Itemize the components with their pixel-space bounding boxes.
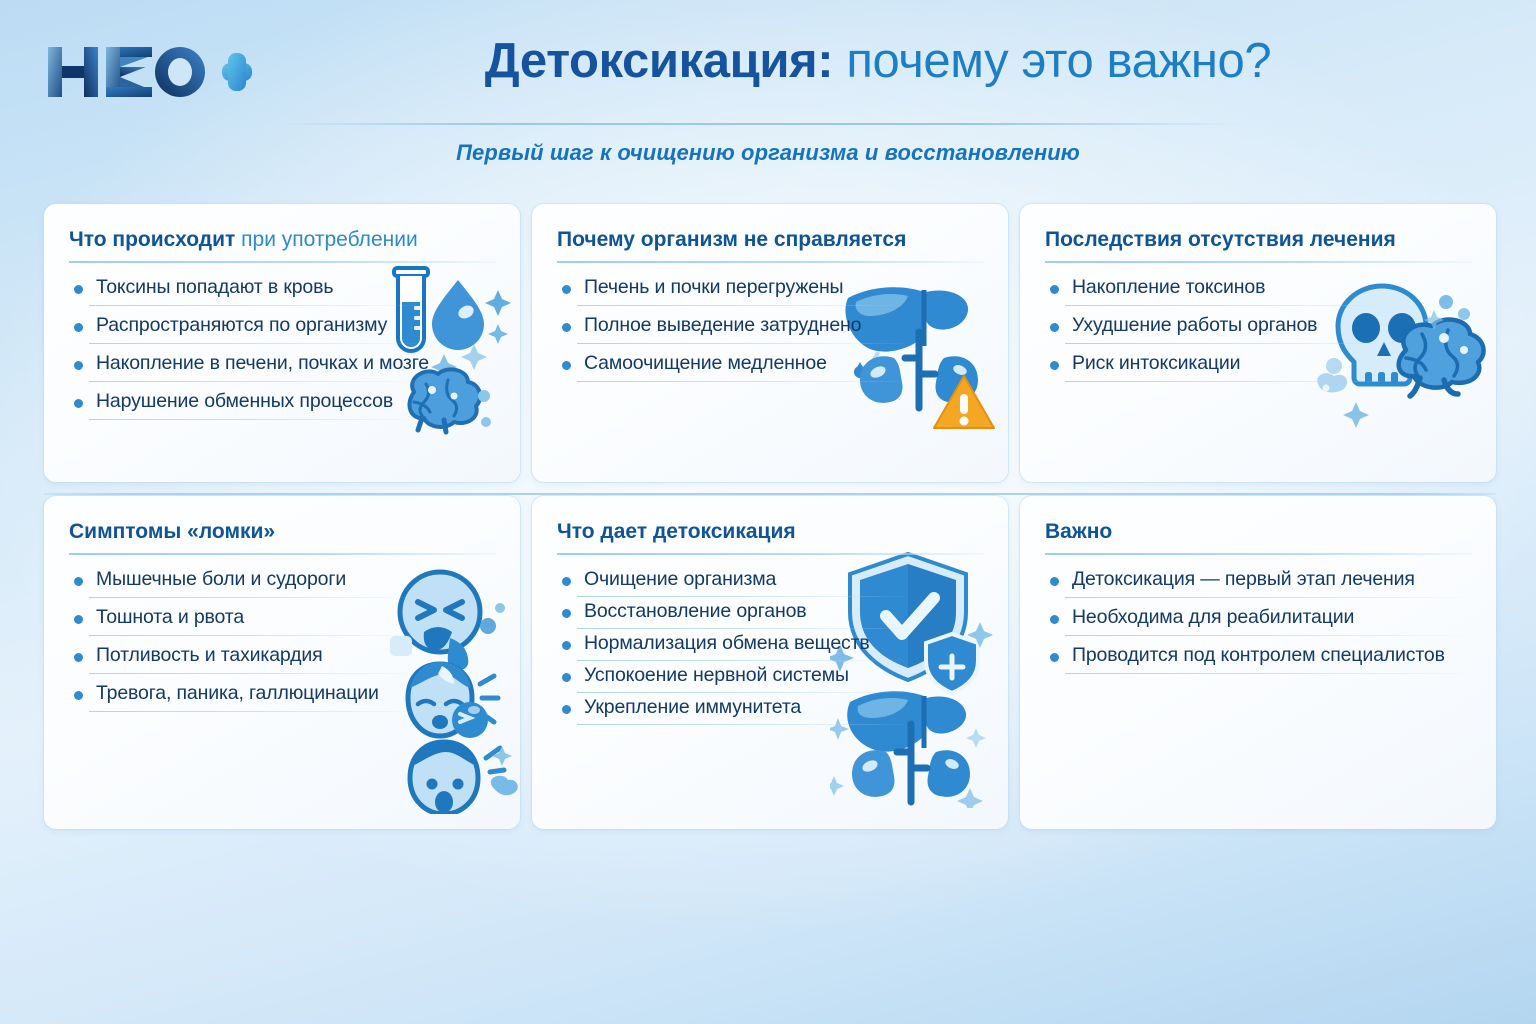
list-item: Нарушение обменных процессов xyxy=(69,390,419,420)
card-no-treatment-consequences[interactable]: Последствия отсутствия лечения Накоплени… xyxy=(1020,204,1496,482)
neo-plus-logo xyxy=(44,41,254,103)
list-item: Накопление токсинов xyxy=(1045,276,1395,306)
cards-row-bottom: Симптомы «ломки» Мышечные боли и судорог… xyxy=(44,496,1496,829)
list-item: Риск интоксикации xyxy=(1045,352,1395,382)
page-title-light: почему это важно? xyxy=(846,34,1271,88)
list-item: Мышечные боли и судороги xyxy=(69,568,419,598)
card-4-list: Мышечные боли и судороги Тошнота и рвота… xyxy=(69,568,419,712)
list-item: Печень и почки перегружены xyxy=(557,276,907,306)
list-item: Тошнота и рвота xyxy=(69,606,419,636)
list-item: Нормализация обмена веществ xyxy=(557,632,907,661)
card-1-title-light: при употреблении xyxy=(241,228,418,251)
list-item: Тревога, паника, галлюцинации xyxy=(69,682,419,712)
list-item: Потливость и тахикардия xyxy=(69,644,419,674)
card-4-title-underline xyxy=(69,553,496,555)
page-title-strong: Детоксикация: xyxy=(485,34,833,88)
card-2-title: Почему организм не справляется xyxy=(557,227,984,252)
kidneys-icon xyxy=(852,724,970,802)
card-3-list: Накопление токсинов Ухудшение работы орг… xyxy=(1045,276,1395,382)
list-item: Очищение организма xyxy=(557,568,907,597)
list-item: Успокоение нервной системы xyxy=(557,664,907,693)
list-item: Детоксикация — первый этап лечения xyxy=(1045,568,1472,598)
rows-divider xyxy=(44,493,1496,495)
list-item: Восстановление органов xyxy=(557,600,907,629)
card-1-title: Что происходит при употреблении xyxy=(69,227,496,252)
card-3-title: Последствия отсутствия лечения xyxy=(1045,227,1472,252)
card-4-title: Симптомы «ломки» xyxy=(69,519,496,544)
card-4-title-strong: Симптомы «ломки» xyxy=(69,520,275,543)
card-2-title-strong: Почему организм не справляется xyxy=(557,228,906,251)
card-detox-benefits[interactable]: Что дает детоксикация Очищение организма… xyxy=(532,496,1008,829)
card-3-title-strong: Последствия отсутствия лечения xyxy=(1045,228,1396,251)
list-item: Проводится под контролем специалистов xyxy=(1045,644,1472,674)
card-6-list: Детоксикация — первый этап лечения Необх… xyxy=(1045,568,1472,674)
card-what-happens[interactable]: Что происходит при употреблении Токсины … xyxy=(44,204,520,482)
card-important[interactable]: Важно Детоксикация — первый этап лечения… xyxy=(1020,496,1496,829)
page-header: Детоксикация: почему это важно? Первый ш… xyxy=(0,0,1536,185)
card-6-title: Важно xyxy=(1045,519,1472,544)
list-item: Ухудшение работы органов xyxy=(1045,314,1395,344)
card-6-title-underline xyxy=(1045,553,1472,555)
list-item: Распространяются по организму xyxy=(69,314,419,344)
card-5-list: Очищение организма Восстановление органо… xyxy=(557,568,907,725)
card-5-title-underline xyxy=(557,553,984,555)
list-item: Полное выведение затруднено xyxy=(557,314,907,344)
card-1-list: Токсины попадают в кровь Распространяютс… xyxy=(69,276,419,420)
card-5-title: Что дает детоксикация xyxy=(557,519,984,544)
warning-triangle-icon xyxy=(934,376,994,428)
list-item: Укрепление иммунитета xyxy=(557,696,907,725)
title-block: Детоксикация: почему это важно? xyxy=(260,36,1496,88)
list-item: Накопление в печени, почках и мозге xyxy=(69,352,419,382)
card-withdrawal-symptoms[interactable]: Симптомы «ломки» Мышечные боли и судорог… xyxy=(44,496,520,829)
list-item: Самоочищение медленное xyxy=(557,352,907,382)
title-divider xyxy=(278,123,1243,125)
card-2-list: Печень и почки перегружены Полное выведе… xyxy=(557,276,907,382)
page-subtitle: Первый шаг к очищению организма и восста… xyxy=(0,140,1536,166)
list-item: Необходима для реабилитации xyxy=(1045,606,1472,636)
panic-face-icon xyxy=(410,740,518,814)
card-why-body-fails[interactable]: Почему организм не справляется Печень и … xyxy=(532,204,1008,482)
cards-row-top: Что происходит при употреблении Токсины … xyxy=(44,204,1496,482)
cards-grid: Что происходит при употреблении Токсины … xyxy=(44,204,1496,829)
page-title: Детоксикация: почему это важно? xyxy=(260,36,1496,88)
card-6-title-strong: Важно xyxy=(1045,520,1112,543)
card-2-title-underline xyxy=(557,261,984,263)
card-5-title-strong: Что дает детоксикация xyxy=(557,520,796,543)
card-1-title-strong: Что происходит xyxy=(69,228,235,251)
card-3-title-underline xyxy=(1045,261,1472,263)
card-1-title-underline xyxy=(69,261,496,263)
list-item: Токсины попадают в кровь xyxy=(69,276,419,306)
